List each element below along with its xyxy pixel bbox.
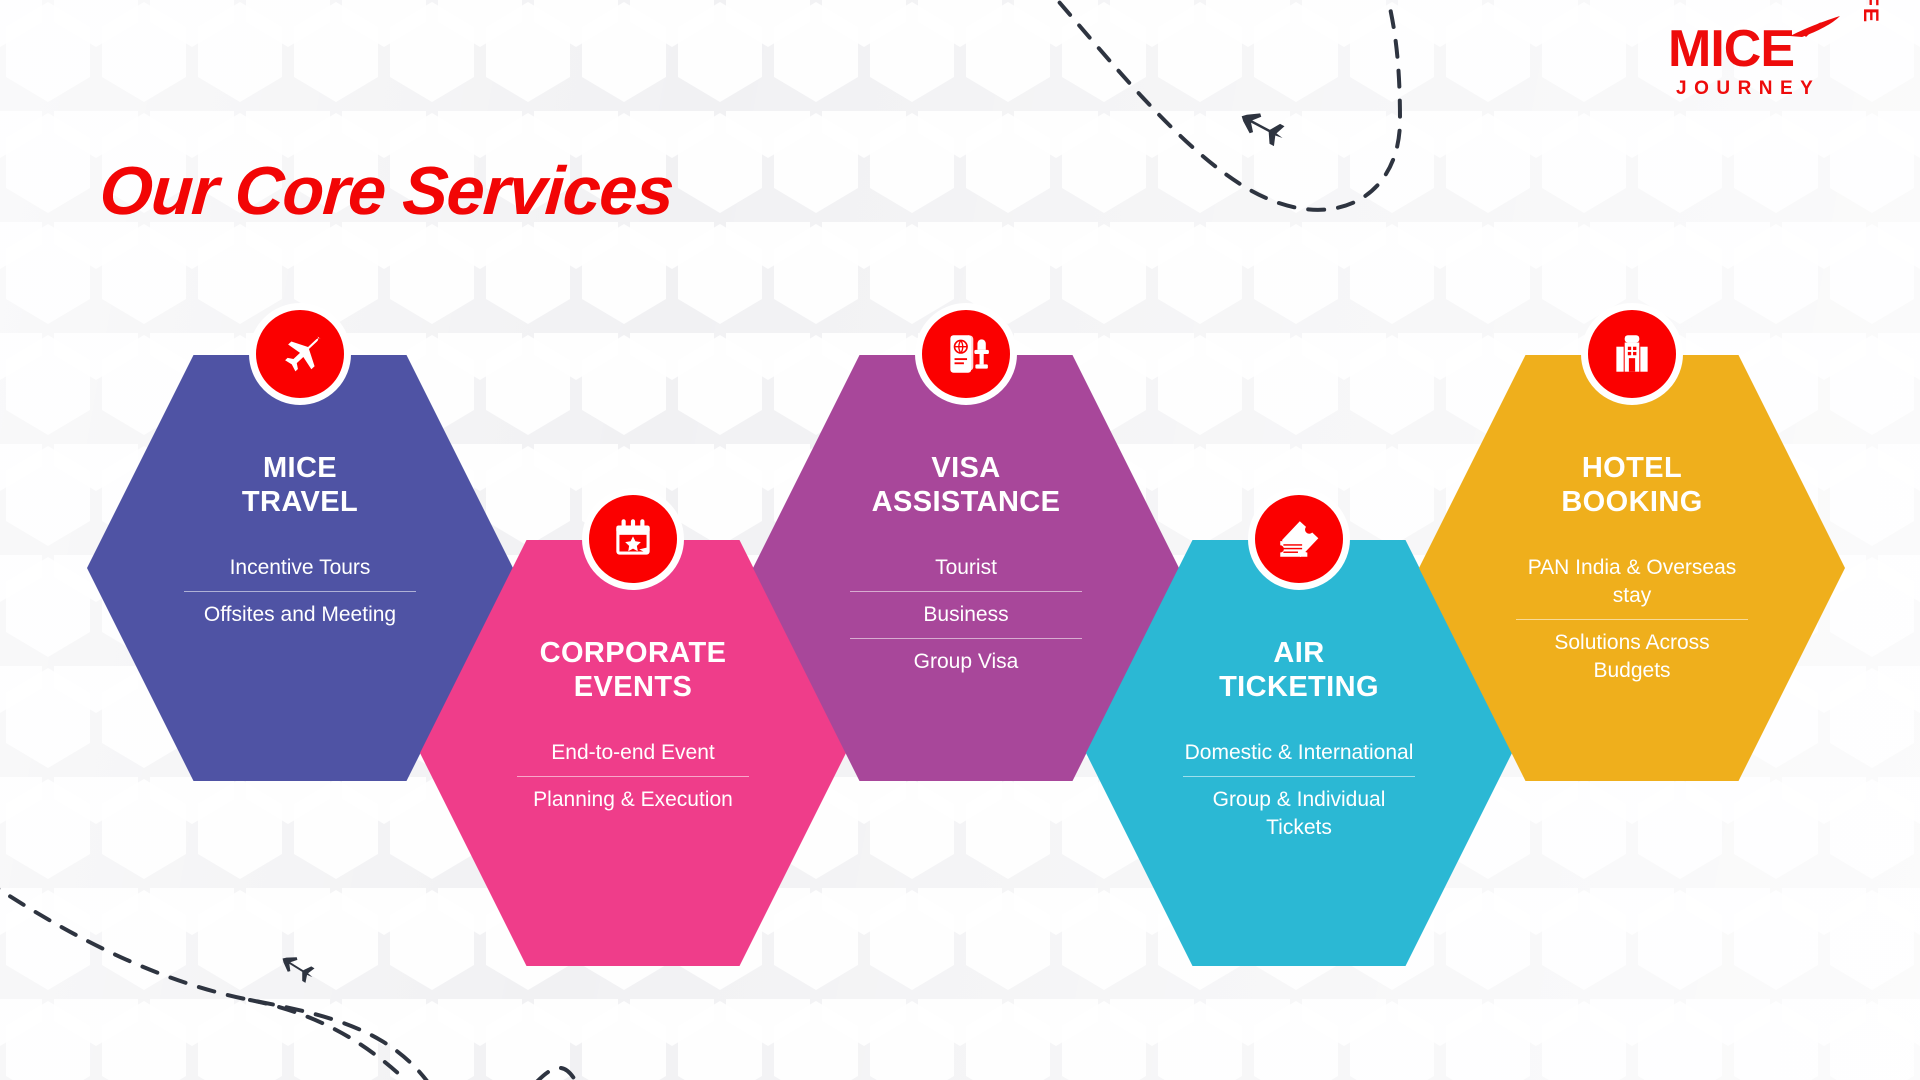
service-item: End-to-end Event bbox=[517, 730, 749, 776]
service-item-list: TouristBusinessGroup Visa bbox=[850, 545, 1082, 685]
service-title: HOTEL BOOKING bbox=[1561, 451, 1702, 519]
service-item-list: Domestic & InternationalGroup & Individu… bbox=[1183, 730, 1415, 851]
service-item: Group & Individual Tickets bbox=[1183, 777, 1415, 851]
service-item: Business bbox=[850, 592, 1082, 638]
service-card-hotel-booking[interactable]: HOTEL BOOKINGPAN India & Overseas staySo… bbox=[1419, 355, 1845, 781]
service-item: Incentive Tours bbox=[184, 545, 416, 591]
service-item-list: End-to-end EventPlanning & Execution bbox=[517, 730, 749, 823]
service-title: AIR TICKETING bbox=[1219, 636, 1379, 704]
service-item-list: Incentive ToursOffsites and Meeting bbox=[184, 545, 416, 638]
service-item: PAN India & Overseas stay bbox=[1516, 545, 1748, 619]
tickets-icon bbox=[1248, 488, 1350, 590]
hotel-building-icon bbox=[1581, 303, 1683, 405]
service-item: Domestic & International bbox=[1183, 730, 1415, 776]
airplane-icon bbox=[249, 303, 351, 405]
service-title: MICE TRAVEL bbox=[242, 451, 358, 519]
services-hex-row: MICE TRAVELIncentive ToursOffsites and M… bbox=[0, 0, 1920, 1080]
service-item: Tourist bbox=[850, 545, 1082, 591]
service-item: Planning & Execution bbox=[517, 777, 749, 823]
service-item-list: PAN India & Overseas staySolutions Acros… bbox=[1516, 545, 1748, 694]
service-item: Offsites and Meeting bbox=[184, 592, 416, 638]
calendar-star-icon bbox=[582, 488, 684, 590]
passport-stamp-icon bbox=[915, 303, 1017, 405]
hexagon-hotel-booking: HOTEL BOOKINGPAN India & Overseas staySo… bbox=[1419, 355, 1845, 781]
service-item: Group Visa bbox=[850, 639, 1082, 685]
service-item: Solutions Across Budgets bbox=[1516, 620, 1748, 694]
service-title: VISA ASSISTANCE bbox=[872, 451, 1061, 519]
service-title: CORPORATE EVENTS bbox=[540, 636, 727, 704]
